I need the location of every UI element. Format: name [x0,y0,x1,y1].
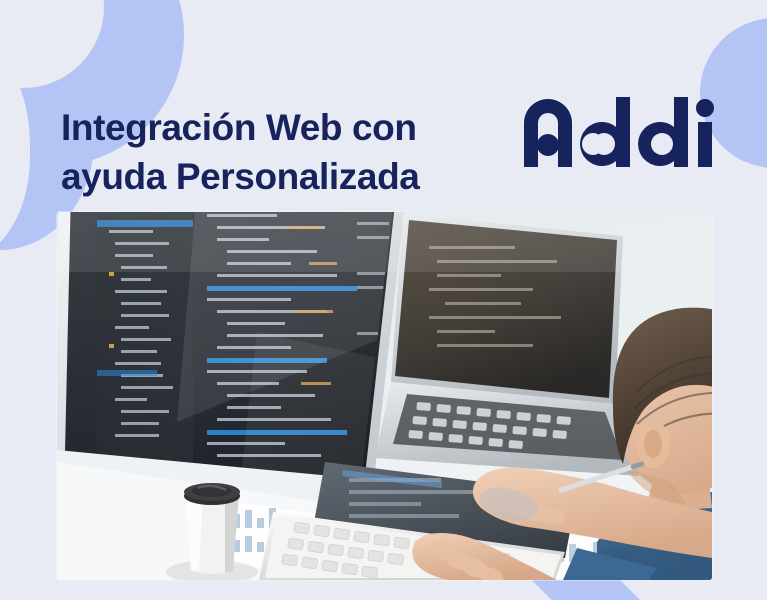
page-title: Integración Web con ayuda Personalizada [61,103,491,201]
hero-photo [57,212,712,580]
page-title-line-1: Integración Web con [61,103,491,152]
addi-logo [522,95,722,169]
promo-banner: Integración Web con ayuda Personalizada [0,0,767,600]
ring-decoration-tail-cutout-icon [0,30,30,260]
page-title-line-2: ayuda Personalizada [61,152,491,201]
ring-decoration-hole-icon [0,0,104,88]
